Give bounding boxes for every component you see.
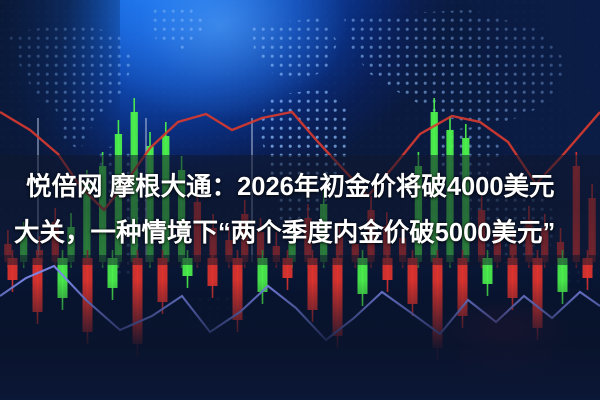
headline-line-1: 悦倍网 摩根大通：2026年初金价将破4000美元 — [14, 164, 586, 210]
bottom-fade — [0, 280, 600, 400]
headline-line-2: 大关，一种情境下“两个季度内金价破5000美元” — [14, 210, 586, 256]
headline: 悦倍网 摩根大通：2026年初金价将破4000美元 大关，一种情境下“两个季度内… — [0, 158, 600, 262]
banner-image: 悦倍网 摩根大通：2026年初金价将破4000美元 大关，一种情境下“两个季度内… — [0, 0, 600, 400]
